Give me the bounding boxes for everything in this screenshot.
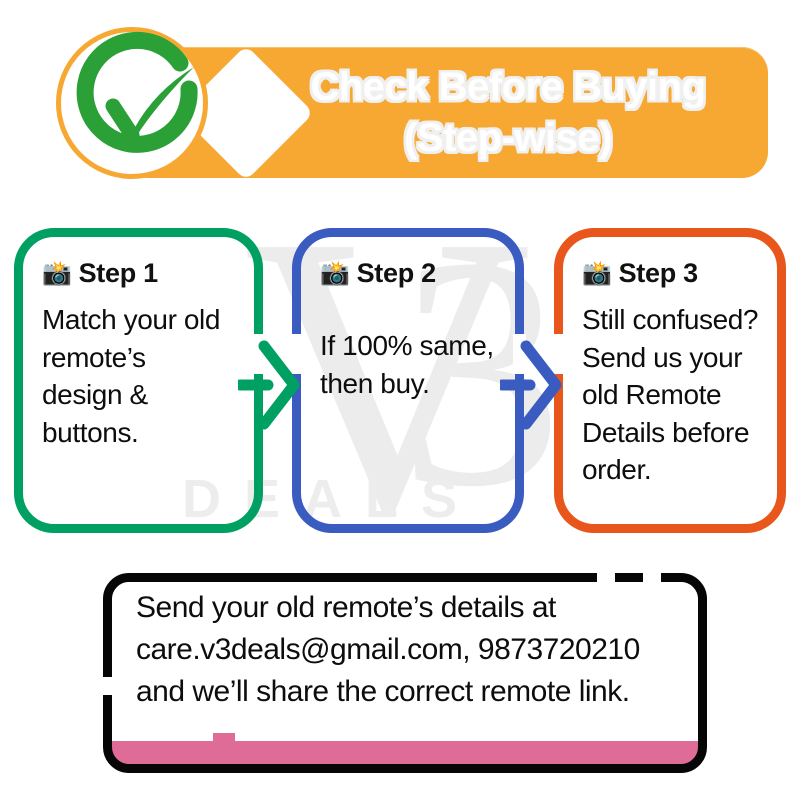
infographic-canvas: V 3 DEALS Check Before Buying (Step-wise… (0, 0, 800, 800)
contact-callout-text: Send your old remote’s details at care.v… (136, 587, 696, 713)
step-card-1-label: Step 1 (79, 258, 158, 289)
arrow-step1-to-step2 (238, 330, 308, 440)
step-card-3-content: 📸 Step 3 Still confused? Send us your ol… (554, 258, 786, 489)
camera-with-flash-icon: 📸 (320, 262, 350, 286)
step-card-1-content: 📸 Step 1 Match your old remote’s design … (14, 258, 263, 451)
page-title: Check Before Buying (Step-wise) (248, 49, 768, 177)
arrow-step2-to-step3 (500, 330, 570, 440)
camera-with-flash-icon: 📸 (582, 262, 612, 286)
header-banner: Check Before Buying (Step-wise) (48, 27, 768, 177)
callout-border-gap-bottom (213, 733, 235, 747)
step-card-3-text: Still confused? Send us your old Remote … (582, 301, 778, 489)
callout-border-gap-top-1 (597, 570, 615, 585)
camera-with-flash-icon: 📸 (42, 262, 72, 286)
step-card-2-label: Step 2 (357, 258, 436, 289)
step-card-2-heading: 📸 Step 2 (320, 258, 524, 289)
step-card-1-heading: 📸 Step 1 (42, 258, 263, 289)
callout-border-gap-top-2 (643, 570, 661, 585)
step-card-2-content: 📸 Step 2 If 100% same, then buy. (292, 258, 524, 402)
step-card-1-text: Match your old remote’s design & buttons… (42, 301, 228, 451)
contact-callout: Send your old remote’s details at care.v… (103, 573, 707, 776)
page-title-line2: (Step-wise) (404, 114, 612, 163)
green-check-circle-icon (56, 27, 208, 179)
step-card-2: 📸 Step 2 If 100% same, then buy. (292, 228, 524, 533)
callout-border-gap-left (100, 677, 115, 695)
page-title-line1: Check Before Buying (310, 63, 705, 112)
step-card-3-heading: 📸 Step 3 (582, 258, 786, 289)
step-card-3-label: Step 3 (619, 258, 698, 289)
step-card-2-text: If 100% same, then buy. (320, 327, 496, 402)
step-card-3: 📸 Step 3 Still confused? Send us your ol… (554, 228, 786, 533)
step-card-1: 📸 Step 1 Match your old remote’s design … (14, 228, 263, 533)
